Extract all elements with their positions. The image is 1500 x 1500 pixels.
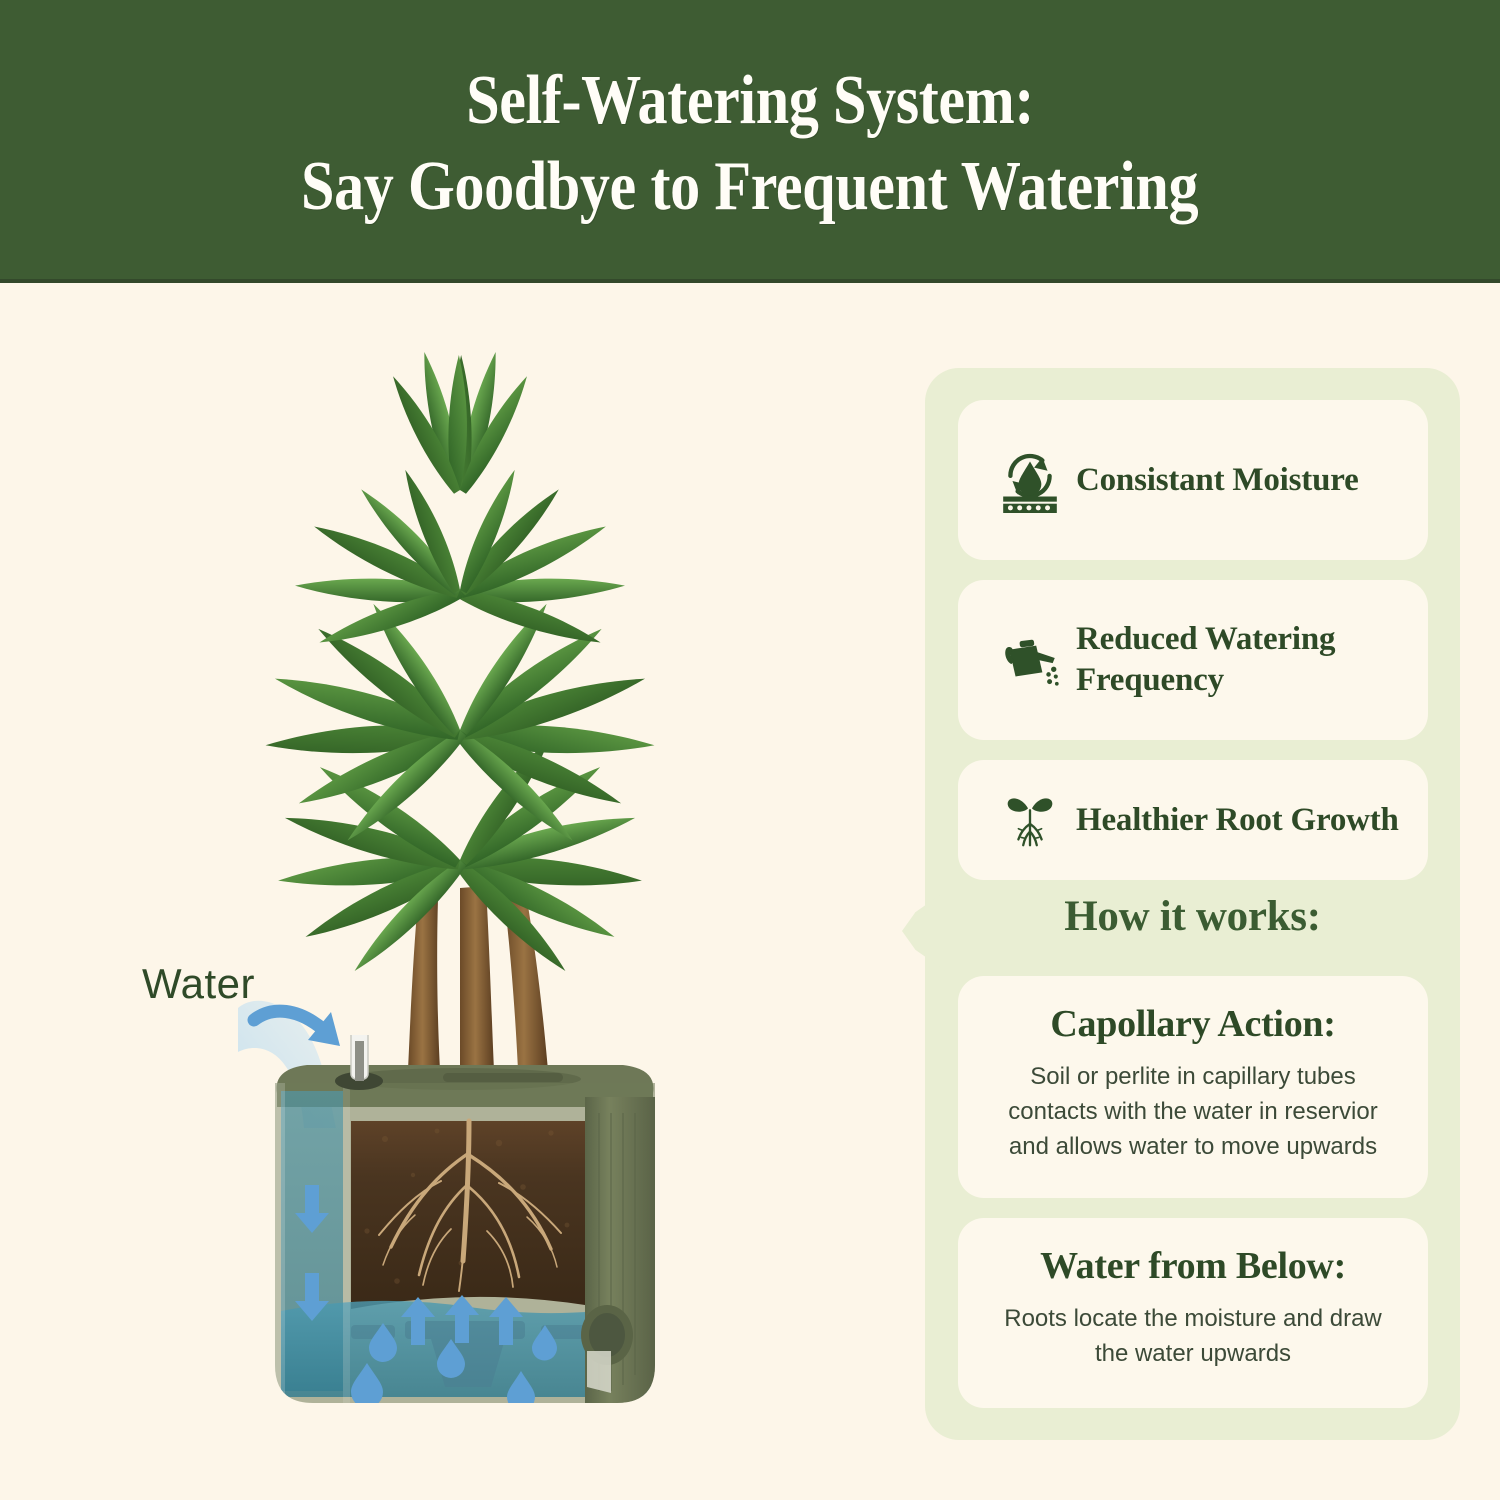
moisture-cycle-icon (984, 447, 1076, 513)
page-title-line-1: Self-Watering System: (466, 58, 1034, 143)
self-watering-pot-cutaway (255, 1035, 675, 1435)
watering-can-icon (984, 627, 1076, 693)
page-title-line-2: Say Goodbye to Frequent Watering (301, 144, 1198, 229)
pot-vent-slot (443, 1073, 563, 1082)
feature-label-reduced-watering: Reduced Watering Frequency (1076, 619, 1335, 701)
feature-card-healthier-roots[interactable]: Healthier Root Growth (958, 760, 1428, 880)
step-card-capillary-action[interactable]: Capollary Action: Soil or perlite in cap… (958, 976, 1428, 1198)
step-title-capillary-action: Capollary Action: (988, 1002, 1398, 1046)
plant-foliage (265, 350, 656, 981)
infographic-page: Self-Watering System: Say Goodbye to Fre… (0, 0, 1500, 1500)
feature-card-consistent-moisture[interactable]: Consistant Moisture (958, 400, 1428, 560)
water-level-indicator (335, 1035, 383, 1090)
step-body-water-from-below: Roots locate the moisture and draw the w… (988, 1302, 1398, 1372)
feature-card-reduced-watering[interactable]: Reduced Watering Frequency (958, 580, 1428, 740)
water-up-arrows (401, 1295, 523, 1345)
feature-label-line-2: Frequency (1076, 662, 1224, 698)
dracaena-plant (160, 340, 760, 1070)
feature-label-line-1: Reduced Watering (1076, 621, 1335, 657)
feature-label-consistent-moisture: Consistant Moisture (1076, 460, 1359, 501)
how-it-works-heading: How it works: (925, 892, 1460, 941)
seedling-roots-icon (984, 789, 1076, 851)
header-banner: Self-Watering System: Say Goodbye to Fre… (0, 0, 1500, 283)
feature-label-healthier-roots: Healthier Root Growth (1076, 800, 1399, 841)
step-body-capillary-action: Soil or perlite in capillary tubes conta… (988, 1060, 1398, 1164)
step-title-water-from-below: Water from Below: (988, 1244, 1398, 1288)
benefits-panel: Consistant Moisture (925, 368, 1460, 1440)
step-card-water-from-below[interactable]: Water from Below: Roots locate the moist… (958, 1218, 1428, 1408)
product-illustration: Water (60, 300, 890, 1490)
